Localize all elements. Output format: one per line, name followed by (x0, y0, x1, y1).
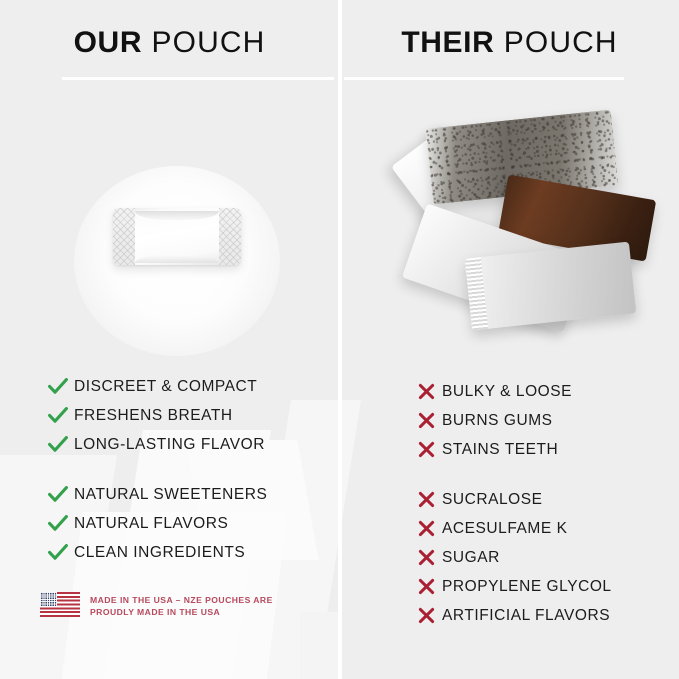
page-title-their: THEIR POUCH (340, 26, 679, 60)
check-icon (48, 515, 74, 532)
x-icon (418, 412, 442, 429)
list-item: LONG-LASTING FLAVOR (48, 430, 267, 459)
list-item: SUCRALOSE (418, 485, 612, 514)
list-item-label: LONG-LASTING FLAVOR (74, 436, 265, 454)
check-icon (48, 544, 74, 561)
list-item-label: FRESHENS BREATH (74, 407, 233, 425)
list-item-label: CLEAN INGREDIENTS (74, 544, 245, 562)
made-in-usa-line2: PROUDLY MADE IN THE USA (90, 606, 273, 618)
list-item: NATURAL FLAVORS (48, 509, 267, 538)
usa-flag-icon (40, 592, 80, 617)
list-item: BULKY & LOOSE (418, 377, 612, 406)
list-item: SUGAR (418, 543, 612, 572)
check-icon (48, 486, 74, 503)
list-item-label: BULKY & LOOSE (442, 383, 572, 401)
x-icon (418, 383, 442, 400)
list-item-label: SUGAR (442, 549, 500, 567)
list-item: STAINS TEETH (418, 435, 612, 464)
their-feature-list: BULKY & LOOSE BURNS GUMS STAINS TEETH SU… (418, 377, 612, 630)
x-icon (418, 549, 442, 566)
x-icon (418, 578, 442, 595)
list-item: FRESHENS BREATH (48, 401, 267, 430)
our-pouch-image (113, 208, 241, 265)
list-item-label: BURNS GUMS (442, 412, 553, 430)
list-item-label: NATURAL SWEETENERS (74, 486, 267, 504)
x-icon (418, 520, 442, 537)
list-group-gap (418, 464, 612, 485)
list-item-label: DISCREET & COMPACT (74, 378, 257, 396)
x-icon (418, 491, 442, 508)
list-item: DISCREET & COMPACT (48, 372, 267, 401)
made-in-usa-badge: MADE IN THE USA – NZE POUCHES ARE PROUDL… (40, 592, 273, 618)
list-item: NATURAL SWEETENERS (48, 480, 267, 509)
comparison-infographic: OUR POUCH DISCREET & COMPACT FRESHENS BR… (0, 0, 679, 679)
title-light-our: POUCH (152, 26, 266, 59)
list-item-label: SUCRALOSE (442, 491, 543, 509)
title-strong-our: OUR (74, 26, 142, 59)
made-in-usa-text: MADE IN THE USA – NZE POUCHES ARE PROUDL… (90, 592, 273, 618)
list-item-label: PROPYLENE GLYCOL (442, 578, 612, 596)
column-our-pouch: OUR POUCH DISCREET & COMPACT FRESHENS BR… (0, 0, 339, 679)
pouch-crease-bottom (135, 255, 219, 263)
check-icon (48, 436, 74, 453)
flag-canton (40, 592, 57, 606)
pouch-crease-top (135, 211, 219, 220)
list-item: CLEAN INGREDIENTS (48, 538, 267, 567)
list-item: ARTIFICIAL FLAVORS (418, 601, 612, 630)
their-pouches-image (380, 125, 650, 340)
list-item: ACESULFAME K (418, 514, 612, 543)
x-icon (418, 441, 442, 458)
page-title-our: OUR POUCH (0, 26, 339, 60)
title-light-their: POUCH (504, 26, 618, 59)
list-item-label: ARTIFICIAL FLAVORS (442, 607, 610, 625)
made-in-usa-line1: MADE IN THE USA – NZE POUCHES ARE (90, 594, 273, 606)
list-item-label: ACESULFAME K (442, 520, 567, 538)
check-icon (48, 378, 74, 395)
list-item-label: STAINS TEETH (442, 441, 558, 459)
our-feature-list: DISCREET & COMPACT FRESHENS BREATH LONG-… (48, 372, 267, 567)
list-group-gap (48, 459, 267, 480)
list-item-label: NATURAL FLAVORS (74, 515, 228, 533)
list-item: BURNS GUMS (418, 406, 612, 435)
x-icon (418, 607, 442, 624)
title-strong-their: THEIR (401, 26, 494, 59)
check-icon (48, 407, 74, 424)
list-item: PROPYLENE GLYCOL (418, 572, 612, 601)
